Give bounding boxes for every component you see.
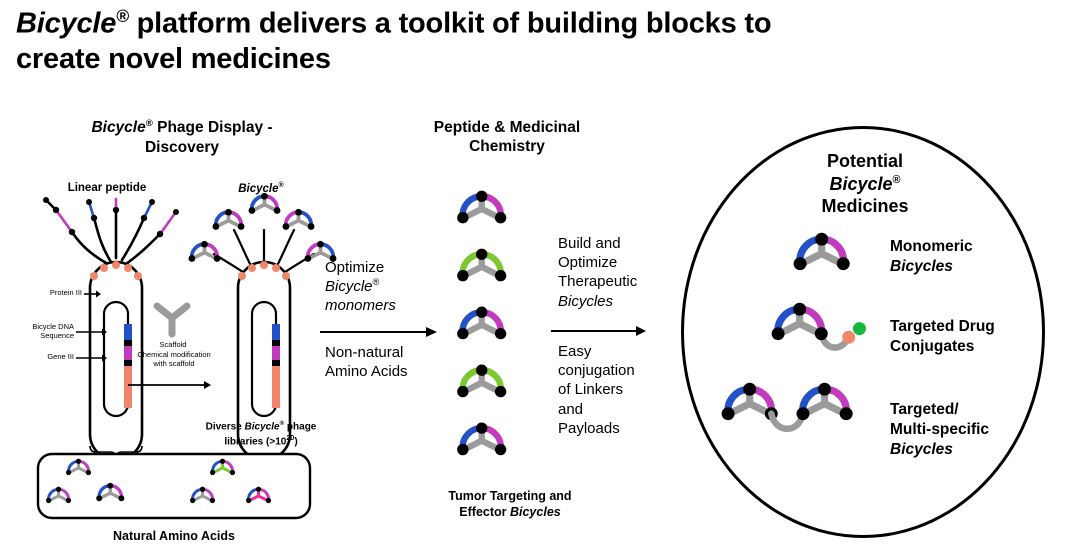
discovery-registered-mark: ® bbox=[146, 118, 153, 129]
arrow1-above-text: Optimize Bicycle® monomers bbox=[325, 258, 421, 316]
medicine-label-multi-specific: Targeted/ Multi-specific Bicycles bbox=[890, 400, 1070, 459]
page-title: Bicycle® platform delivers a toolkit of … bbox=[16, 6, 1036, 77]
diverse-library-label: Diverse Bicycle® phage libraries (>1020) bbox=[186, 420, 336, 449]
gene-iii-label: Gene III bbox=[22, 352, 74, 361]
scaffold-icon bbox=[150, 300, 194, 340]
bicycle-phage-label: Bicycle® bbox=[196, 181, 326, 197]
medicine-label-monomeric: Monomeric Bicycles bbox=[890, 237, 1040, 277]
bicycle-phage-diagram bbox=[176, 196, 336, 456]
slide-root: Bicycle® platform delivers a toolkit of … bbox=[0, 0, 1080, 552]
title-brand: Bicycle bbox=[16, 8, 116, 40]
multi-specific-bicycle-graphic bbox=[718, 382, 878, 454]
protein-iii-arrow-icon bbox=[84, 290, 102, 298]
natural-amino-acids-label: Natural Amino Acids bbox=[36, 528, 312, 544]
targeted-drug-conjugate-graphic bbox=[768, 302, 878, 372]
title-registered-mark: ® bbox=[116, 6, 129, 26]
scaffold-sublabel: Chemical modification with scaffold bbox=[128, 350, 220, 369]
discovery-head-line2: Discovery bbox=[145, 139, 219, 156]
gene-iii-arrow-icon bbox=[76, 354, 108, 362]
bicycle-dna-sequence-label: Bicycle DNA Sequence bbox=[10, 322, 74, 341]
scaffold-label: Scaffold bbox=[144, 340, 202, 349]
chemistry-head-line2: Chemistry bbox=[469, 138, 545, 155]
protein-iii-label: Protein III bbox=[24, 288, 82, 297]
scaffold-to-library-arrow-icon bbox=[128, 380, 212, 390]
title-line1-rest: platform delivers a toolkit of building … bbox=[129, 8, 772, 40]
therapeutic-bicycles-stack bbox=[448, 190, 548, 480]
arrow1-below-text: Non-natural Amino Acids bbox=[325, 343, 433, 381]
arrow2-above-text: Build and Optimize Therapeutic Bicycles bbox=[558, 234, 668, 311]
discovery-head-rest: Phage Display - bbox=[153, 119, 273, 136]
linear-peptide-label: Linear peptide bbox=[32, 181, 182, 196]
arrow1-icon bbox=[320, 326, 438, 338]
potential-medicines-title: Potential Bicycle® Medicines bbox=[760, 150, 970, 218]
monomeric-bicycle-graphic bbox=[790, 232, 860, 296]
column-heading-chemistry: Peptide & Medicinal Chemistry bbox=[382, 118, 632, 157]
tumor-targeting-caption: Tumor Targeting and Effector Bicycles bbox=[400, 488, 620, 521]
arrow2-icon bbox=[551, 325, 647, 337]
arrow2-below-text: Easy conjugation of Linkers and Payloads bbox=[558, 342, 662, 438]
column-heading-discovery: Bicycle® Phage Display - Discovery bbox=[32, 118, 332, 157]
title-line2: create novel medicines bbox=[16, 43, 331, 75]
natural-amino-acids-box bbox=[36, 452, 312, 520]
medicine-label-targeted-drug-conjugates: Targeted Drug Conjugates bbox=[890, 317, 1060, 357]
chemistry-head-line1: Peptide & Medicinal bbox=[434, 119, 580, 136]
discovery-brand: Bicycle bbox=[91, 119, 145, 136]
dna-sequence-arrow-icon bbox=[76, 328, 108, 336]
